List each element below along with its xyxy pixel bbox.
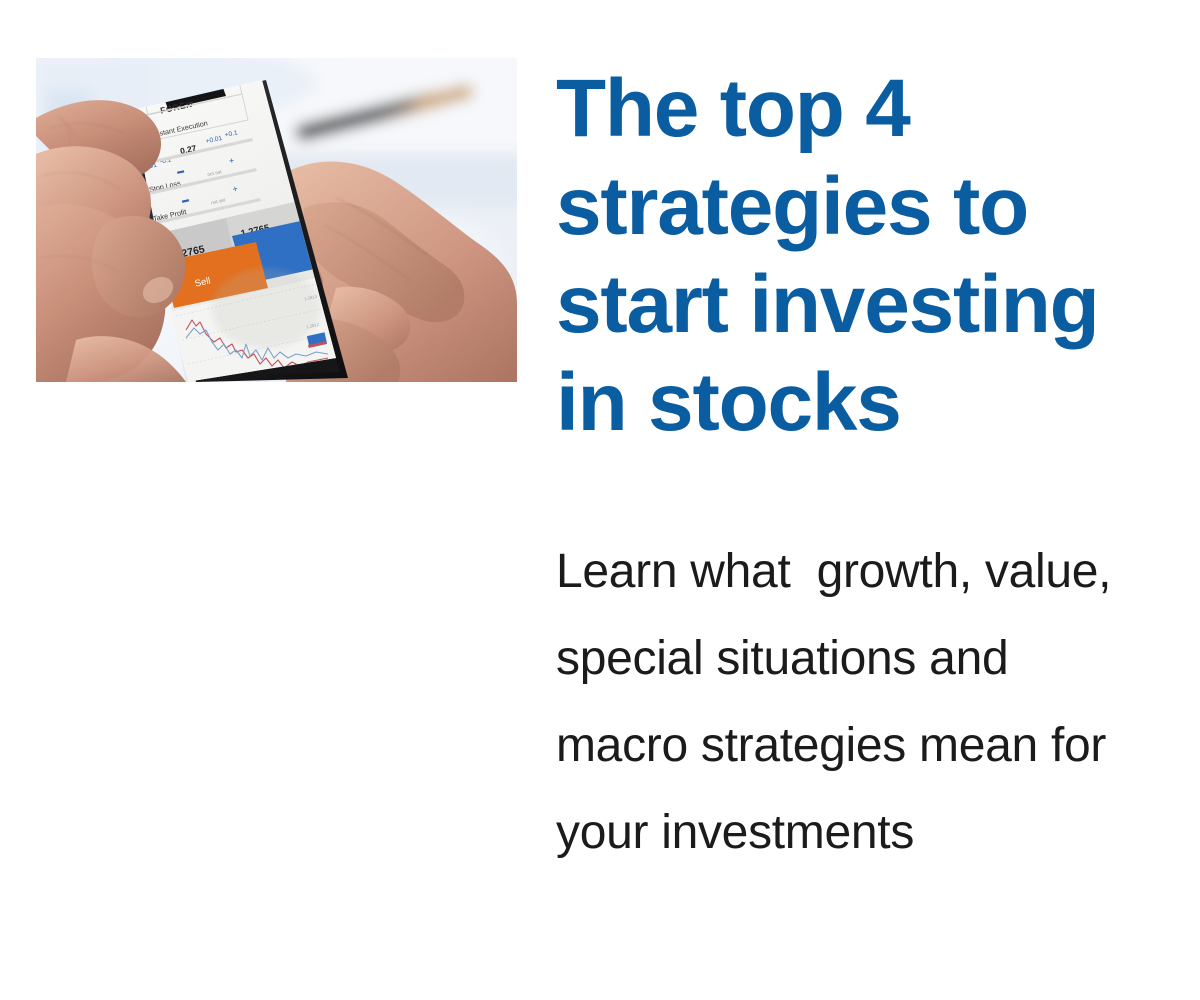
page-title: The top 4 strategies to start investing … (556, 60, 1156, 452)
article-text-column: The top 4 strategies to start investing … (556, 60, 1156, 452)
hands-holding-phone-trading-app-image: FOREX ▾ Instant Execution -0.01 -0.1 0.2… (36, 58, 517, 382)
hero-photo: FOREX ▾ Instant Execution -0.01 -0.1 0.2… (36, 58, 517, 382)
finger-shadow (212, 268, 320, 348)
article-subtitle: Learn what growth, value, special situat… (556, 528, 1136, 876)
article-hero: FOREX ▾ Instant Execution -0.01 -0.1 0.2… (0, 0, 1200, 1000)
